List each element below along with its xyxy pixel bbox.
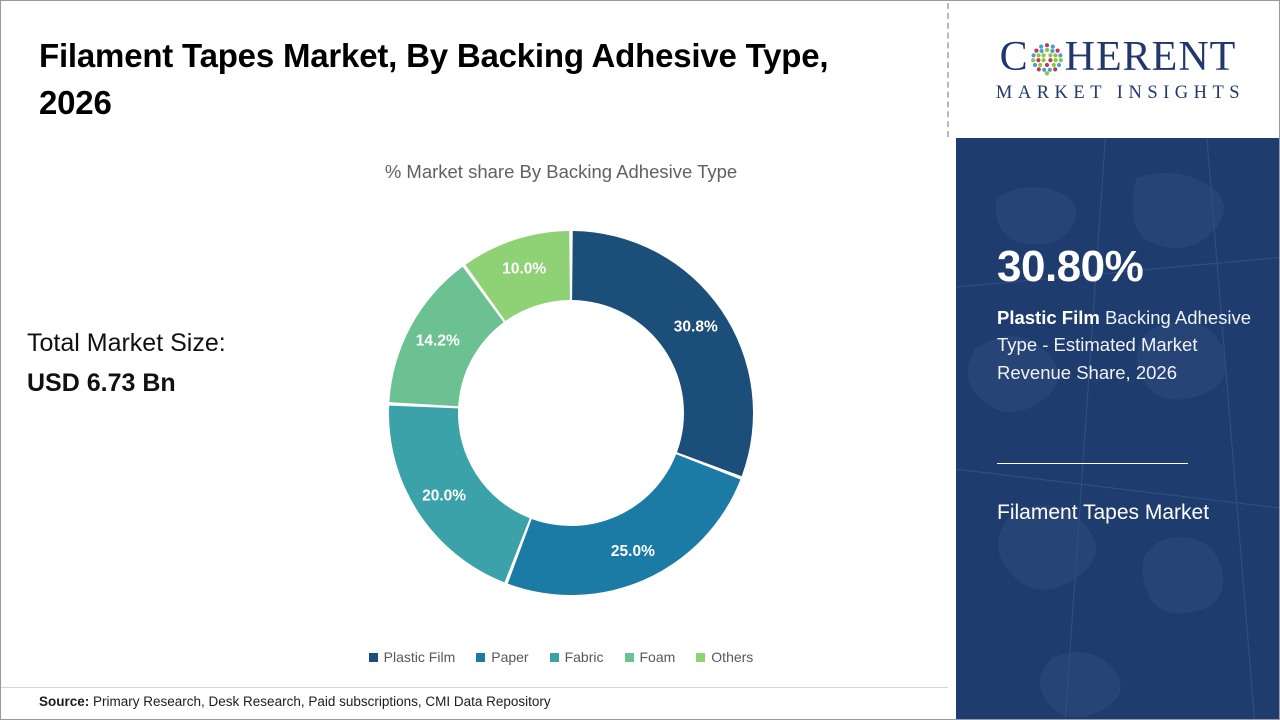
legend-label: Plastic Film: [384, 649, 456, 665]
legend-swatch: [369, 653, 378, 662]
donut-slice: [508, 454, 741, 595]
legend-item[interactable]: Fabric: [550, 649, 604, 665]
right-side-pane: C: [956, 2, 1280, 720]
brand-logo: C: [956, 2, 1280, 138]
stat-highlight-term: Plastic Film: [997, 307, 1100, 328]
legend-label: Foam: [640, 649, 676, 665]
source-note: Source: Primary Research, Desk Research,…: [39, 694, 551, 709]
donut-chart: 30.8%25.0%20.0%14.2%10.0%: [389, 231, 753, 595]
chart-legend: Plastic FilmPaperFabricFoamOthers: [161, 649, 961, 665]
donut-slice: [572, 231, 753, 476]
donut-slice-label: 25.0%: [611, 543, 655, 560]
panel-market-name: Filament Tapes Market: [997, 496, 1247, 531]
legend-label: Paper: [491, 649, 528, 665]
legend-item[interactable]: Plastic Film: [369, 649, 456, 665]
legend-label: Others: [711, 649, 753, 665]
brand-tagline: MARKET INSIGHTS: [991, 83, 1245, 104]
brand-name: C: [1000, 36, 1237, 78]
brand-name-part2: HERENT: [1065, 36, 1237, 78]
legend-item[interactable]: Others: [696, 649, 753, 665]
donut-chart-svg: 30.8%25.0%20.0%14.2%10.0%: [389, 231, 753, 595]
source-text: Primary Research, Desk Research, Paid su…: [89, 694, 550, 709]
donut-slice-label: 14.2%: [416, 332, 460, 349]
legend-swatch: [476, 653, 485, 662]
legend-item[interactable]: Foam: [625, 649, 676, 665]
donut-slice-label: 20.0%: [422, 487, 466, 504]
total-market-size-block: Total Market Size: USD 6.73 Bn: [27, 323, 357, 403]
globe-icon: [1030, 42, 1064, 76]
infographic-canvas: Filament Tapes Market, By Backing Adhesi…: [0, 0, 1280, 720]
stat-description: Plastic Film Backing Adhesive Type - Est…: [997, 304, 1261, 386]
chart-subtitle: % Market share By Backing Adhesive Type: [161, 161, 961, 183]
brand-name-part1: C: [1000, 36, 1029, 78]
highlight-panel: 30.80% Plastic Film Backing Adhesive Typ…: [956, 138, 1280, 720]
vertical-dashed-divider: [947, 3, 949, 137]
legend-swatch: [696, 653, 705, 662]
page-title: Filament Tapes Market, By Backing Adhesi…: [39, 33, 869, 127]
donut-slice-label: 10.0%: [502, 260, 546, 277]
donut-slice-label: 30.8%: [674, 319, 718, 336]
stat-percentage: 30.80%: [997, 242, 1143, 292]
footer-divider: [1, 687, 948, 688]
legend-swatch: [625, 653, 634, 662]
legend-item[interactable]: Paper: [476, 649, 528, 665]
source-label: Source:: [39, 694, 89, 709]
total-market-size-value: USD 6.73 Bn: [27, 363, 357, 403]
total-market-size-label: Total Market Size:: [27, 323, 357, 363]
panel-divider: [997, 463, 1188, 464]
legend-swatch: [550, 653, 559, 662]
legend-label: Fabric: [565, 649, 604, 665]
world-map-texture: [956, 138, 1280, 720]
donut-slice-group: [389, 231, 753, 595]
left-content-pane: Filament Tapes Market, By Backing Adhesi…: [1, 1, 948, 720]
